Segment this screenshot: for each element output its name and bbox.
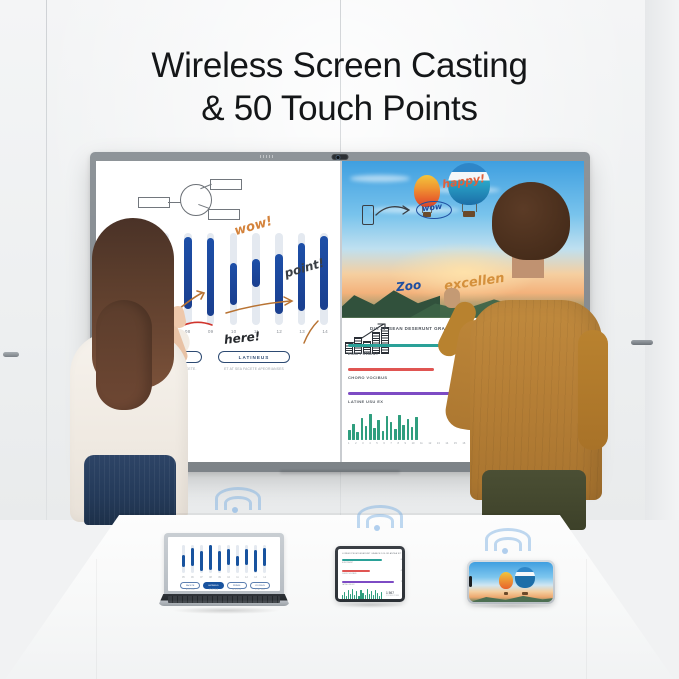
green-bar [381,592,382,599]
green-bar [348,590,349,599]
product-hero-image: 05060708091011121314 wow! point! here! F… [0,0,679,679]
laptop-pill-caption: ET AT SEA [250,589,270,591]
bar-fill [209,545,212,570]
laptop-bar-chart [182,545,266,573]
tablet-bar-red [342,570,370,572]
dashboard-bar-red [348,368,434,371]
display-bezel-top [90,152,590,161]
callout-lead-line [168,202,181,203]
green-bar [373,428,376,440]
green-bar [367,589,368,599]
green-bar [373,595,374,599]
headline-line-1: Wireless Screen Casting [151,46,527,85]
tablet-kpi-value: 1 567 [386,591,394,595]
bar-column [227,545,230,573]
whiteboard-card[interactable]: LATINEUS ET AT SEA FACETE APEORIANSES [218,351,290,371]
laptop-screen[interactable]: 05060708091011121314 FACETELATINEUSPRIMI… [168,537,280,591]
green-bar [356,432,359,440]
tablet-heading: LOREM IPSUM DESERUNT GRAECE DOLOR ANTEA … [342,553,402,555]
bar-column [254,545,257,573]
axis-tick-label: 05 [182,576,185,579]
dashboard-green-axis: 1234567891011121314151617 [348,442,474,445]
phone-screen[interactable] [469,562,554,603]
axis-tick-label: 5 [376,442,377,445]
door-handle [3,352,19,357]
laptop-shadow [172,607,280,614]
green-bar [379,596,380,599]
green-bar [371,591,372,599]
axis-tick-label: 13 [299,329,305,334]
green-bar [352,424,355,440]
bar-fill [200,551,203,572]
axis-tick-label: 3 [362,442,363,445]
bar-fill [230,263,238,305]
green-bar [415,417,418,440]
laptop-device[interactable]: 05060708091011121314 FACETELATINEUSPRIMI… [158,533,290,613]
laptop-pill-primis[interactable]: PRIMIS [227,582,247,589]
green-bar [386,416,389,440]
axis-tick-label: 11 [420,442,423,445]
bar-fill [275,254,283,315]
axis-tick-label: 15 [454,442,457,445]
camera-icon [332,154,349,160]
ink-annotation-here: here! [223,329,260,347]
axis-tick-label: 14 [263,576,266,579]
bar-column [252,233,260,325]
callout-box [138,197,170,208]
laptop-pill-latineus[interactable]: LATINEUS [203,582,223,589]
green-bar [352,589,353,599]
phone-side-button[interactable] [469,576,472,587]
axis-tick-label: 2 [355,442,356,445]
tablet-value: 41% [401,570,402,572]
axis-tick-label: 6 [383,442,384,445]
laptop-pill-facete[interactable]: FACETE [180,582,200,589]
axis-tick-label: 12 [276,329,282,334]
tablet-value: 68% [401,559,402,561]
phone-device[interactable] [467,560,555,604]
callout-box [210,179,242,190]
laptop-caption-row: APEORIAET AT SEAAPEORIAET AT SEA [180,589,270,591]
woman-hair-tail [96,300,152,410]
headline-line-2: & 50 Touch Points [0,87,679,130]
bar-fill [184,237,192,309]
green-bar [398,415,401,440]
axis-tick-label: 4 [369,442,370,445]
green-bar [348,430,351,440]
axis-tick-label: 13 [254,576,257,579]
green-bar [346,596,347,599]
green-bar [394,429,397,440]
laptop-lid: 05060708091011121314 FACETELATINEUSPRIMI… [164,533,284,595]
hot-air-balloon [499,572,513,596]
bar-column [218,545,221,573]
bar-fill [320,236,328,310]
axis-tick-label: 09 [208,329,214,334]
phone-shadow [469,603,553,609]
display-stand [280,470,400,474]
ink-annotation-zoo: Zoo [395,278,422,295]
axis-tick-label: 06 [191,576,194,579]
green-bar [369,414,372,440]
green-bar [377,593,378,599]
laptop-pill-row[interactable]: FACETELATINEUSPRIMISVOCIBUS [180,582,270,589]
man-hair [492,182,570,260]
green-bar [377,420,380,440]
bar-fill [207,238,215,315]
axis-tick-label: 12 [245,576,248,579]
tablet-device[interactable]: LOREM IPSUM DESERUNT GRAECE DOLOR ANTEA … [335,546,405,602]
green-bar [358,596,359,599]
screen-split-divider [340,161,342,462]
green-bar [369,594,370,599]
bar-fill [182,555,185,566]
green-bar [382,431,385,440]
green-bar [354,595,355,599]
tablet-screen[interactable]: LOREM IPSUM DESERUNT GRAECE DOLOR ANTEA … [338,549,402,599]
axis-tick-label: 9 [405,442,406,445]
laptop-base [158,594,290,606]
bar-column [182,545,185,573]
bar-column [263,545,266,573]
tablet-label: LATINE USU EX [342,584,402,586]
wifi-cast-icon-phone [485,528,531,560]
bar-column [320,233,328,325]
bar-fill [263,548,266,566]
axis-tick-label: 07 [200,576,203,579]
tablet-label: EUM PRIMIST [342,562,402,564]
green-bar [356,591,357,599]
green-bar [375,590,376,599]
laptop-pill-caption: ET AT SEA [203,589,223,591]
door-handle [631,340,653,345]
laptop-pill-caption: APEORIA [227,589,247,591]
tablet-green-chart [342,589,382,599]
green-bar [350,594,351,599]
tablet-label: CHORO VOCIBUS [342,573,402,575]
bar-fill [218,551,221,571]
latineus-button[interactable]: LATINEUS [218,351,290,363]
laptop-chart-axis: 05060708091011121314 [182,576,266,579]
tablet-value: 79% [401,581,402,583]
speaker-grille [260,155,274,158]
bar-fill [298,243,306,311]
axis-tick-label: 16 [462,442,465,445]
bar-column [275,233,283,325]
green-bar [361,418,364,440]
bar-column [230,233,238,325]
green-bar [342,595,343,599]
bar-column [200,545,203,573]
axis-tick-label: 13 [437,442,440,445]
axis-tick-label: 12 [428,442,431,445]
tablet-shadow [336,602,404,608]
axis-tick-label: 10 [227,576,230,579]
green-bar [402,425,405,440]
axis-tick-label: 1 [348,442,349,445]
green-bar [365,595,366,599]
green-bar [360,590,361,599]
axis-tick-label: 14 [322,329,328,334]
bar-column [209,545,212,573]
laptop-pill-vocibus[interactable]: VOCIBUS [250,582,270,589]
tablet-bar-teal [342,559,382,561]
bar-fill [191,548,194,565]
axis-tick-label: 7 [390,442,391,445]
pie-diagram [138,179,243,223]
bar-fill [236,556,239,566]
bar-column [245,545,248,573]
bar-column [236,545,239,573]
laptop-keyboard[interactable] [168,596,280,603]
green-bar [344,592,345,599]
axis-tick-label: 14 [445,442,448,445]
bar-fill [227,549,230,564]
bar-column [298,233,306,325]
green-bar [407,419,410,440]
laptop-pill-caption: APEORIA [180,589,200,591]
wifi-cast-icon-laptop [215,487,261,519]
axis-tick-label: 09 [218,576,221,579]
axis-tick-label: 8 [397,442,398,445]
ink-arrow [374,201,414,223]
bar-column [207,233,215,325]
bar-fill [252,259,260,287]
phone-sketch-icon [362,205,374,225]
bar-fill [254,550,257,572]
man-arm-right [578,330,608,450]
green-bar [390,422,393,440]
callout-box [208,209,240,220]
bar-column [191,545,194,573]
wifi-cast-icon-tablet [357,505,403,537]
page-title: Wireless Screen Casting & 50 Touch Point… [0,44,679,131]
axis-tick-label: 10 [412,442,415,445]
green-bar [362,593,363,599]
bar-fill [245,549,248,566]
latineus-caption: ET AT SEA FACETE APEORIANSES [218,367,290,372]
bar-column [184,233,192,325]
axis-tick-label: 11 [236,576,238,579]
tablet-bar-purple [342,581,394,583]
green-bar [365,426,368,440]
axis-tick-label: 08 [209,576,212,579]
green-bar [411,427,414,440]
hot-air-balloon [515,567,535,597]
tablet-kpi-caption: VOCIBUS PRIMIS [386,596,399,597]
